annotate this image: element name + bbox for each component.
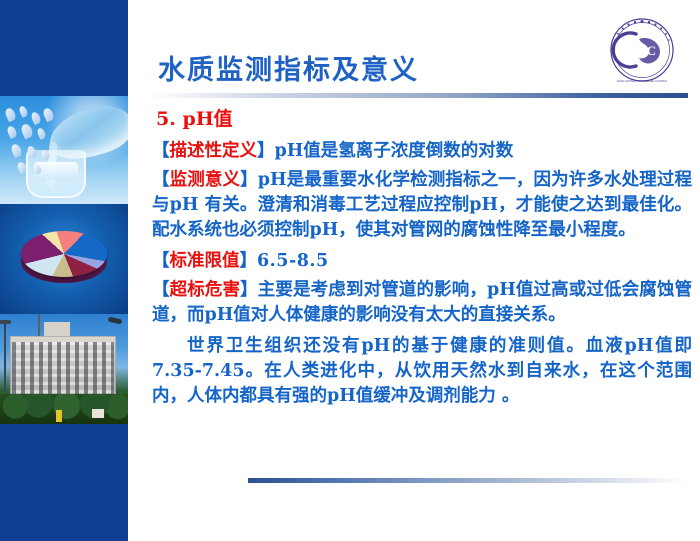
section-heading: 5. pH值: [156, 104, 692, 131]
title-divider: [148, 93, 688, 98]
wall-sign-shape: [92, 409, 104, 418]
definition-text: pH值是氢离子浓度倒数的对数: [275, 141, 514, 161]
significance-label: 监测意义: [170, 170, 241, 190]
bracket-open: 【: [152, 280, 170, 300]
slide-canvas: 水质监测指标及意义 CDC CHINA CENTER FOR DISEASE C…: [0, 0, 700, 541]
pie-chart-photo: [0, 204, 128, 314]
hazard-label: 超标危害: [170, 280, 241, 300]
cdc-logo-ring-text: CHINA CENTER FOR DISEASE CONTROL: [617, 79, 668, 83]
street-lamp-shape: [108, 317, 123, 325]
definition-label: 描述性定义: [170, 141, 258, 161]
bracket-open: 【: [152, 141, 170, 161]
cdc-logo-text: CDC: [628, 43, 656, 58]
cdc-logo: CDC CHINA CENTER FOR DISEASE CONTROL: [606, 14, 678, 86]
significance-paragraph: 【监测意义】pH是最重要水化学检测指标之一，因为许多水处理过程与pH 有关。澄清…: [152, 168, 692, 243]
bracket-open: 【: [152, 170, 170, 190]
limit-paragraph: 【标准限值】6.5-8.5: [152, 249, 692, 274]
limit-label: 标准限值: [170, 251, 240, 271]
page-title: 水质监测指标及意义: [158, 48, 419, 87]
building-photo: [0, 314, 128, 424]
bracket-open: 【: [152, 251, 170, 271]
bracket-close: 】: [240, 170, 258, 190]
water-droplets-icon: [4, 106, 62, 176]
pie-chart-top: [21, 231, 107, 277]
bracket-close: 】: [240, 280, 258, 300]
hazard-paragraph: 【超标危害】主要是考虑到对管道的影响，pH值过高或过低会腐蚀管道，而pH值对人体…: [152, 278, 692, 328]
yellow-sign-shape: [56, 410, 62, 422]
definition-paragraph: 【描述性定义】pH值是氢离子浓度倒数的对数: [152, 139, 692, 164]
limit-value: 6.5-8.5: [257, 251, 329, 271]
building-block-shape: [10, 336, 116, 398]
bracket-close: 】: [257, 141, 275, 161]
water-pouring-photo: [0, 96, 128, 204]
bottom-divider: [248, 478, 688, 483]
slide-body: 5. pH值 【描述性定义】pH值是氢离子浓度倒数的对数 【监测意义】pH是最重…: [152, 104, 692, 415]
note-paragraph: 世界卫生组织还没有pH的基于健康的准则值。血液pH值即7.35-7.45。在人类…: [152, 334, 692, 409]
street-pole-shape: [4, 320, 6, 392]
tree-line-shape: [0, 394, 128, 424]
antenna-mast-shape: [38, 314, 40, 336]
bracket-close: 】: [240, 251, 258, 271]
